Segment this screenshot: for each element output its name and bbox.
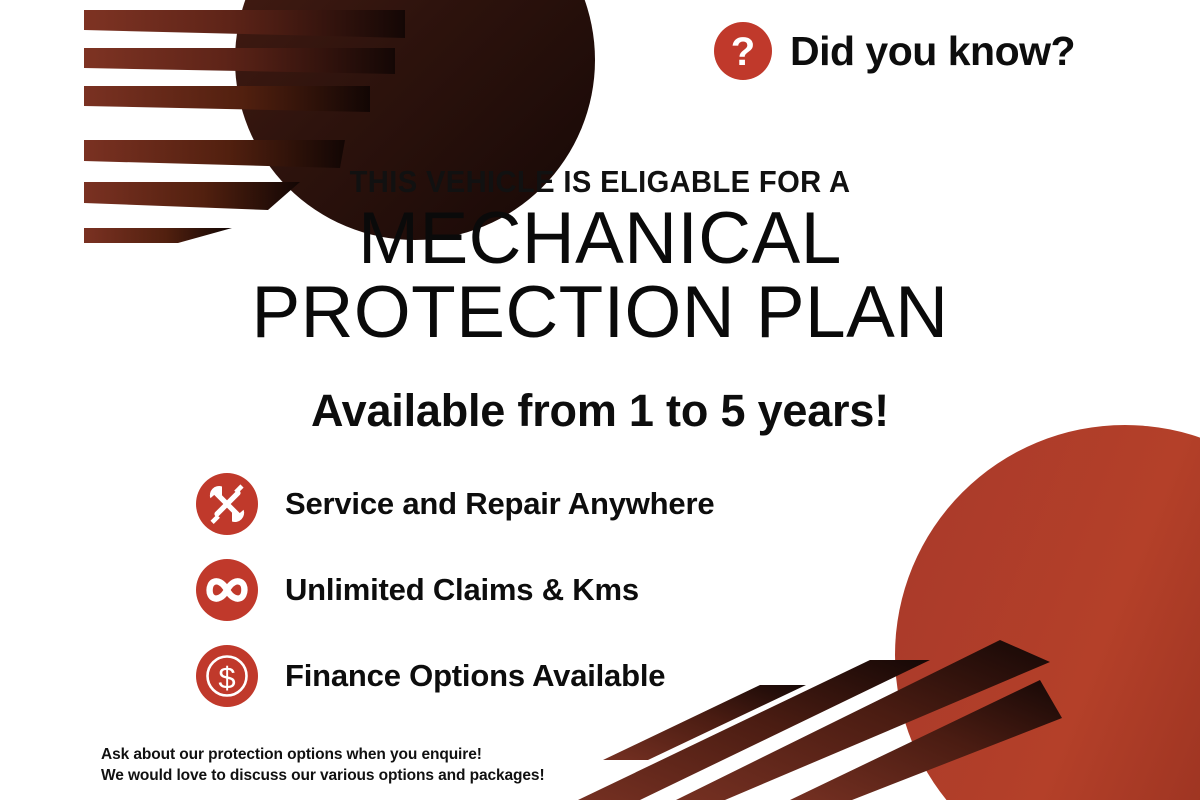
headline-line-2: PROTECTION PLAN (0, 277, 1200, 349)
headline-block: THIS VEHICLE IS ELIGABLE FOR A MECHANICA… (0, 166, 1200, 350)
svg-text:?: ? (731, 30, 755, 74)
footer-note: Ask about our protection options when yo… (101, 745, 545, 786)
question-mark-icon: ? (714, 22, 772, 80)
dollar-coin-icon: $ (196, 645, 258, 707)
feature-list: Service and Repair Anywhere Unlimited Cl… (196, 471, 714, 729)
headline-eyebrow: THIS VEHICLE IS ELIGABLE FOR A (36, 166, 1164, 197)
feature-label: Finance Options Available (285, 658, 665, 694)
feature-item-unlimited-claims: Unlimited Claims & Kms (196, 557, 714, 623)
svg-text:$: $ (218, 661, 235, 696)
footer-line-1: Ask about our protection options when yo… (101, 745, 545, 766)
did-you-know-banner: ? Did you know? (714, 22, 1075, 80)
infinity-icon (196, 559, 258, 621)
feature-label: Service and Repair Anywhere (285, 486, 714, 522)
headline-line-1: MECHANICAL (0, 203, 1200, 275)
feature-item-finance-options: $ Finance Options Available (196, 643, 714, 709)
did-you-know-label: Did you know? (790, 28, 1075, 75)
poster-canvas: ? Did you know? THIS VEHICLE IS ELIGABLE… (0, 0, 1200, 800)
content-layer: ? Did you know? THIS VEHICLE IS ELIGABLE… (0, 0, 1200, 800)
footer-line-2: We would love to discuss our various opt… (101, 766, 545, 787)
wrench-screwdriver-icon (196, 473, 258, 535)
subheadline: Available from 1 to 5 years! (0, 385, 1200, 437)
feature-item-service-repair: Service and Repair Anywhere (196, 471, 714, 537)
feature-label: Unlimited Claims & Kms (285, 572, 639, 608)
